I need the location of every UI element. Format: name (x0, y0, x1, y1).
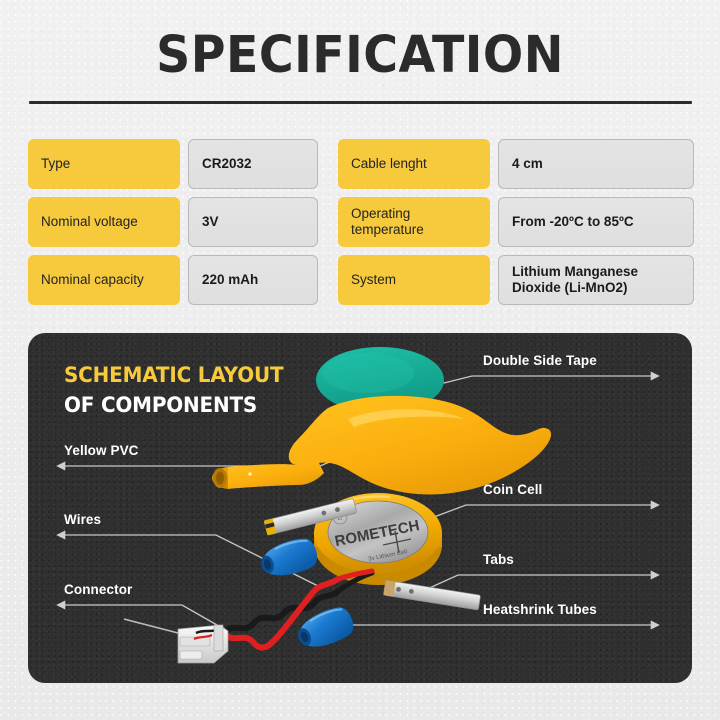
spec-label-nominal-capacity: Nominal capacity (28, 255, 180, 305)
callout-coin-cell: Coin Cell (483, 482, 542, 497)
callout-yellow-pvc: Yellow PVC (64, 443, 139, 458)
page-header: SPECIFICATION (0, 0, 720, 112)
schematic-illustration: ROMETECH 3v Lithium Cell Li (28, 333, 692, 683)
callout-double-side-tape: Double Side Tape (483, 353, 597, 368)
spec-value-operating-temperature: From -20ºC to 85ºC (498, 197, 694, 247)
yellow-pvc-graphic (212, 396, 551, 495)
connector-graphic (124, 619, 228, 663)
spec-value-type: CR2032 (188, 139, 318, 189)
spec-column-gap (318, 197, 338, 247)
wires-graphic (224, 571, 372, 648)
schematic-panel: SCHEMATIC LAYOUT OF COMPONENTS (28, 333, 692, 683)
spec-label-system: System (338, 255, 490, 305)
spec-column-gap (318, 255, 338, 305)
spec-value-system: Lithium Manganese Dioxide (Li-MnO2) (498, 255, 694, 305)
header-divider (29, 101, 692, 104)
spec-value-nominal-voltage: 3V (188, 197, 318, 247)
spec-label-nominal-voltage: Nominal voltage (28, 197, 180, 247)
spec-column-gap (318, 139, 338, 189)
specification-table: Type CR2032 Cable lenght 4 cm Nominal vo… (28, 139, 694, 305)
callout-tabs: Tabs (483, 552, 514, 567)
callout-heatshrink-tubes: Heatshrink Tubes (483, 602, 597, 617)
spec-value-cable-length: 4 cm (498, 139, 694, 189)
heatshrink-tube-upper (257, 535, 320, 582)
spec-label-cable-length: Cable lenght (338, 139, 490, 189)
page-title: SPECIFICATION (25, 26, 695, 85)
callout-wires: Wires (64, 512, 101, 527)
spec-label-type: Type (28, 139, 180, 189)
tab-strip-lower (383, 580, 480, 610)
spec-value-nominal-capacity: 220 mAh (188, 255, 318, 305)
callout-connector: Connector (64, 582, 132, 597)
spec-label-operating-temperature: Operating temperature (338, 197, 490, 247)
